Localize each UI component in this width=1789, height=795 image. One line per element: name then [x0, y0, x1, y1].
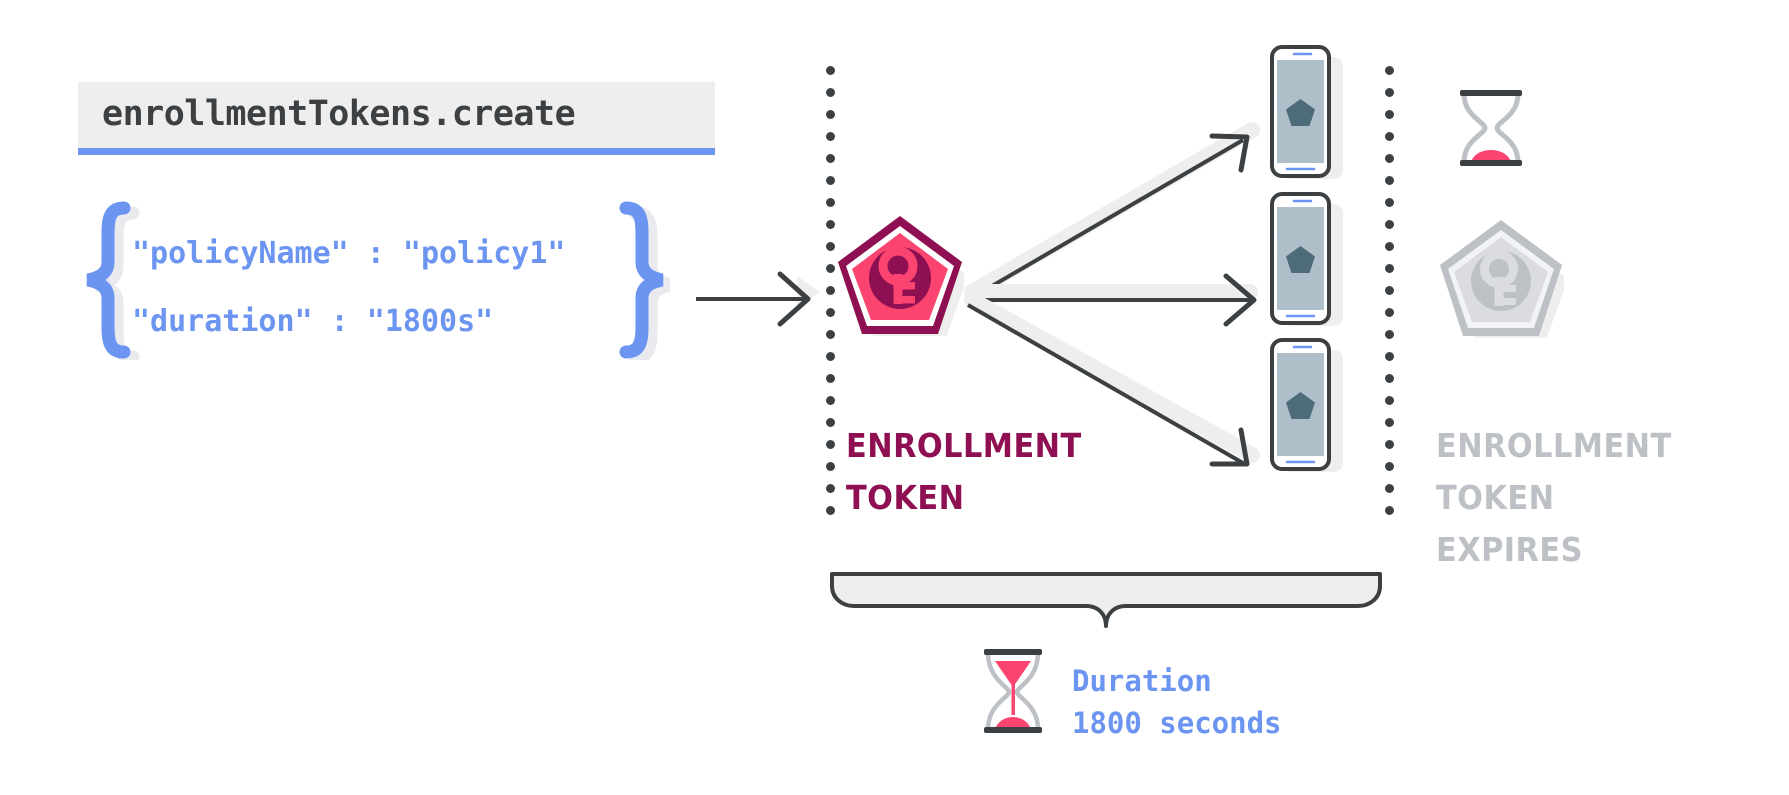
dotted-divider-left [826, 66, 835, 528]
dispatch-arrow-1 [968, 130, 1252, 300]
token-label-line-1: ENROLLMENT [846, 420, 1082, 472]
pentagon-key-icon [836, 212, 964, 336]
divider-dot [826, 264, 835, 273]
request-json-block: "policyName" : "policy1" "duration" : "1… [80, 200, 680, 360]
divider-dot [826, 506, 835, 515]
divider-dot [1385, 374, 1394, 383]
duration-value: 1800 seconds [1072, 702, 1282, 744]
divider-dot [1385, 88, 1394, 97]
divider-dot [826, 220, 835, 229]
divider-dot [826, 110, 835, 119]
divider-dot [826, 484, 835, 493]
divider-dot [826, 308, 835, 317]
duration-caption: Duration 1800 seconds [1072, 660, 1282, 744]
expired-pentagon-key-icon [1438, 216, 1564, 338]
divider-dot [826, 88, 835, 97]
api-method-underline [78, 148, 715, 155]
divider-dot [826, 154, 835, 163]
divider-dot [1385, 242, 1394, 251]
divider-dot [1385, 220, 1394, 229]
divider-dot [1385, 132, 1394, 141]
divider-dot [1385, 462, 1394, 471]
api-method-bar: enrollmentTokens.create [78, 82, 715, 148]
api-method-label: enrollmentTokens.create [102, 94, 691, 134]
hourglass-flowing-icon [978, 645, 1048, 737]
divider-dot [826, 176, 835, 185]
divider-dot [826, 66, 835, 75]
divider-dot [826, 286, 835, 295]
divider-dot [1385, 330, 1394, 339]
hourglass-icon [1452, 86, 1530, 170]
divider-dot [1385, 176, 1394, 185]
device-phone-2 [1270, 192, 1344, 330]
divider-dot [1385, 440, 1394, 449]
divider-dot [1385, 418, 1394, 427]
diagram-canvas: enrollmentTokens.create "policyName" : "… [0, 0, 1789, 795]
divider-dot [826, 330, 835, 339]
divider-dot [826, 418, 835, 427]
json-line-policyname: "policyName" : "policy1" [132, 220, 565, 288]
expires-label-line-1: ENROLLMENT [1436, 420, 1672, 472]
dispatch-arrow-2 [968, 276, 1254, 324]
divider-dot [1385, 110, 1394, 119]
device-phone-3 [1270, 338, 1344, 476]
divider-dot [826, 462, 835, 471]
api-method-block: enrollmentTokens.create [78, 82, 715, 155]
divider-dot [826, 396, 835, 405]
expires-label-line-2: TOKEN [1436, 472, 1672, 524]
token-label-line-2: TOKEN [846, 472, 1082, 524]
divider-dot [826, 198, 835, 207]
divider-dot [1385, 66, 1394, 75]
json-line-duration: "duration" : "1800s" [132, 288, 565, 356]
divider-dot [1385, 308, 1394, 317]
divider-dot [1385, 198, 1394, 207]
divider-dot [826, 440, 835, 449]
request-arrow [696, 274, 820, 324]
divider-dot [826, 374, 835, 383]
divider-dot [1385, 286, 1394, 295]
expires-label-line-3: EXPIRES [1436, 524, 1672, 576]
duration-span-brace [826, 572, 1386, 632]
divider-dot [1385, 484, 1394, 493]
dotted-divider-right [1385, 66, 1394, 528]
divider-dot [1385, 506, 1394, 515]
divider-dot [1385, 396, 1394, 405]
device-phone-1 [1270, 45, 1344, 183]
divider-dot [826, 352, 835, 361]
divider-dot [1385, 352, 1394, 361]
duration-label: Duration [1072, 660, 1282, 702]
json-close-brace-icon [600, 200, 670, 360]
divider-dot [1385, 154, 1394, 163]
divider-dot [826, 132, 835, 141]
divider-dot [826, 242, 835, 251]
enrollment-token-label: ENROLLMENT TOKEN [846, 420, 1082, 524]
enrollment-token-expires-label: ENROLLMENT TOKEN EXPIRES [1436, 420, 1672, 576]
request-json-lines: "policyName" : "policy1" "duration" : "1… [132, 220, 565, 356]
divider-dot [1385, 264, 1394, 273]
